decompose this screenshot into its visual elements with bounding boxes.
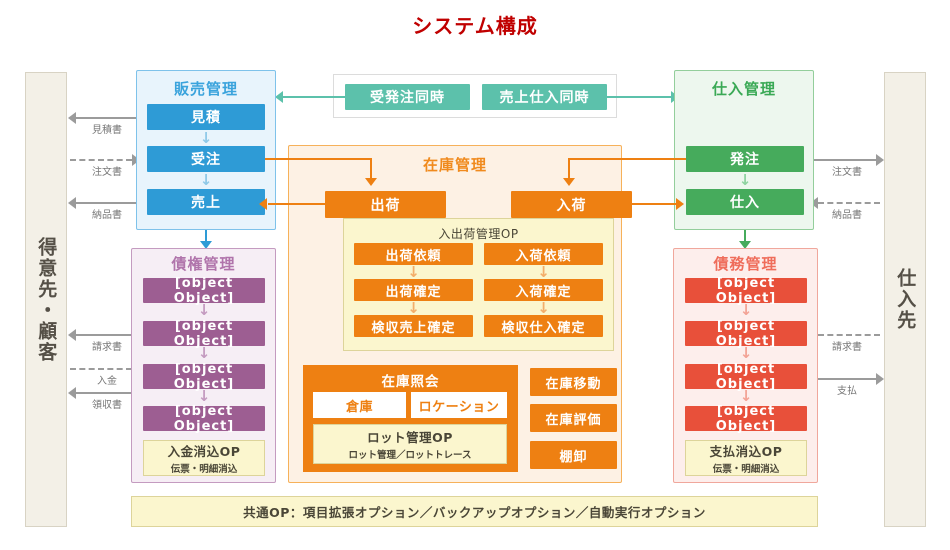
group-purchase-title: 仕入管理: [674, 78, 814, 99]
party-right-label: 仕入先: [895, 268, 916, 331]
doc-label-left-quote: 見積書: [72, 121, 142, 136]
arrowhead-receiving-to-purchase: [676, 198, 684, 210]
node-shipping[interactable]: 出荷: [325, 191, 446, 218]
line-payment-in: [70, 368, 132, 370]
node-shipping-confirm[interactable]: 出荷確定: [354, 279, 473, 301]
node-stock-count[interactable]: 棚卸: [530, 441, 617, 469]
chevron-receivable-3: ↓: [143, 389, 265, 403]
chevron-outbound-1: ↓: [354, 265, 473, 279]
node-accounts-payable[interactable]: [object Object]: [685, 278, 807, 303]
chevron-payable-3: ↓: [685, 389, 807, 403]
node-shipping-request[interactable]: 出荷依頼: [354, 243, 473, 265]
line-po-delivery: [818, 202, 880, 204]
node-receiving-request[interactable]: 入荷依頼: [484, 243, 603, 265]
lot-option-panel: ロット管理OP ロット管理／ロットトレース: [313, 424, 507, 464]
stock-inquiry-warehouse[interactable]: 倉庫: [313, 392, 406, 418]
chevron-payable-2: ↓: [685, 346, 807, 360]
node-stock-valuation[interactable]: 在庫評価: [530, 404, 617, 432]
node-payment[interactable]: [object Object]: [685, 364, 807, 389]
page-title: システム構成: [0, 10, 950, 39]
chevron-outbound-2: ↓: [354, 301, 473, 315]
line-receiving-to-purchase: [630, 203, 680, 205]
node-payment-reconcile[interactable]: [object Object]: [685, 406, 807, 431]
sync-box-order[interactable]: 受発注同時: [345, 84, 470, 110]
party-left-label: 得意先・顧客: [36, 237, 57, 363]
chevron-inbound-1: ↓: [484, 265, 603, 279]
line-order-to-shipping-h: [265, 158, 372, 160]
doc-label-left-delivery: 納品書: [72, 206, 142, 221]
receivable-option-panel: 入金消込OP 伝票・明細消込: [143, 440, 265, 476]
line-receipt: [76, 392, 138, 394]
stock-inquiry-location[interactable]: ロケーション: [411, 392, 507, 418]
group-payable-title: 債務管理: [673, 253, 818, 274]
node-purchase-receipt[interactable]: 仕入: [686, 189, 804, 215]
doc-label-right-payment: 支払: [812, 382, 882, 397]
receivable-option-subtitle: 伝票・明細消込: [171, 461, 238, 475]
sync-box-sales[interactable]: 売上仕入同時: [482, 84, 607, 110]
line-supplier-invoice: [818, 334, 880, 336]
receivable-option-title: 入金消込OP: [168, 441, 241, 460]
payable-option-subtitle: 伝票・明細消込: [713, 461, 780, 475]
node-sales-order[interactable]: 受注: [147, 146, 265, 172]
line-shipping-to-revenue: [268, 203, 326, 205]
group-sales-title: 販売管理: [136, 78, 276, 99]
doc-label-right-order: 注文書: [812, 163, 882, 178]
doc-label-right-delivery: 納品書: [812, 206, 882, 221]
arrowhead-sync-to-sales: [275, 91, 283, 103]
payable-option-panel: 支払消込OP 伝票・明細消込: [685, 440, 807, 476]
payable-option-title: 支払消込OP: [710, 441, 783, 460]
chevron-sales-1: ↓: [147, 130, 265, 146]
lot-option-subtitle: ロット管理／ロットトレース: [348, 447, 471, 461]
doc-label-right-invoice: 請求書: [812, 338, 882, 353]
node-receiving[interactable]: 入荷: [511, 191, 632, 218]
line-order-in: [70, 159, 132, 161]
arrowhead-shipping-to-revenue: [259, 198, 267, 210]
chevron-inbound-2: ↓: [484, 301, 603, 315]
chevron-payable-1: ↓: [685, 303, 807, 317]
line-sync-to-sales: [283, 96, 345, 98]
line-order-to-shipping-v: [370, 158, 372, 180]
node-purchase-order[interactable]: 発注: [686, 146, 804, 172]
chevron-sales-2: ↓: [147, 172, 265, 188]
line-po-to-receiving-h: [568, 158, 686, 160]
chevron-receivable-1: ↓: [143, 303, 265, 317]
line-supplier-payment: [812, 378, 878, 380]
node-sales-revenue[interactable]: 売上: [147, 189, 265, 215]
line-quote: [76, 117, 138, 119]
node-billing[interactable]: [object Object]: [143, 321, 265, 346]
group-receivable-title: 債権管理: [131, 253, 276, 274]
common-option-bar: 共通OP：項目拡張オプション／バックアップオプション／自動実行オプション: [131, 496, 818, 527]
node-deposit[interactable]: [object Object]: [143, 364, 265, 389]
node-deposit-reconcile[interactable]: [object Object]: [143, 406, 265, 431]
node-accounts-receivable[interactable]: [object Object]: [143, 278, 265, 303]
doc-label-left-order: 注文書: [72, 163, 142, 178]
chevron-receivable-2: ↓: [143, 346, 265, 360]
lot-option-title: ロット管理OP: [367, 427, 453, 446]
node-receiving-confirm[interactable]: 入荷確定: [484, 279, 603, 301]
arrowhead-po-to-receiving: [563, 178, 575, 186]
party-left-customer: 得意先・顧客: [25, 72, 67, 527]
line-delivery-note: [76, 202, 138, 204]
stock-shipping-option-title: 入出荷管理OP: [438, 225, 518, 242]
node-stock-transfer[interactable]: 在庫移動: [530, 368, 617, 396]
line-sync-to-purchase: [607, 96, 673, 98]
node-sales-quote[interactable]: 見積: [147, 104, 265, 130]
node-payment-closing[interactable]: [object Object]: [685, 321, 807, 346]
node-inspection-purchase-confirm[interactable]: 検収仕入確定: [484, 315, 603, 337]
line-po-to-receiving-v: [568, 158, 570, 180]
line-po-out: [812, 159, 878, 161]
stock-inquiry-title: 在庫照会: [303, 370, 518, 390]
node-inspection-sales-confirm[interactable]: 検収売上確定: [354, 315, 473, 337]
party-right-supplier: 仕入先: [884, 72, 926, 527]
chevron-purchase-1: ↓: [686, 172, 804, 188]
line-invoice-out: [76, 334, 138, 336]
diagram-canvas: システム構成 得意先・顧客 仕入先 見積書 注文書 納品書 請求書 入金 領収書…: [0, 0, 950, 550]
arrowhead-order-to-shipping: [365, 178, 377, 186]
